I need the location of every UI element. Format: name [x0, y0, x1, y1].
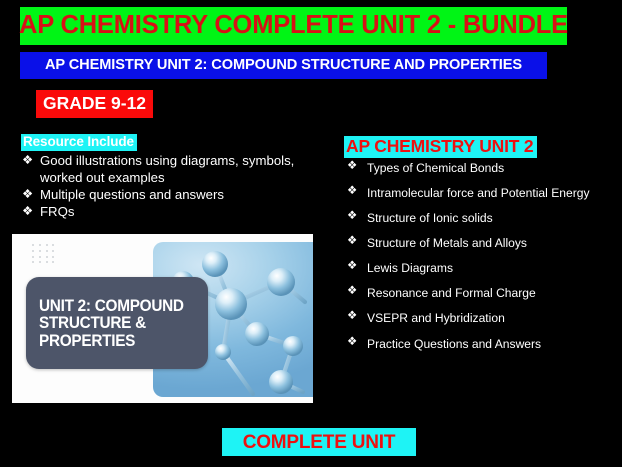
list-item-label: Structure of Metals and Alloys	[367, 236, 527, 250]
list-item-label: Lewis Diagrams	[367, 261, 453, 275]
complete-unit-text: COMPLETE UNIT	[243, 433, 396, 452]
resource-include-section: Resource Include ❖ Good illustrations us…	[21, 133, 321, 221]
cover-title-line-1: UNIT 2: COMPOUND	[39, 298, 184, 315]
diamond-bullet-icon: ❖	[347, 161, 357, 173]
list-item-label: VSEPR and Hybridization	[367, 311, 505, 325]
main-title-banner: AP CHEMISTRY COMPLETE UNIT 2 - BUNDLE	[20, 7, 567, 45]
list-item: ❖ Multiple questions and answers	[21, 187, 321, 204]
list-item: ❖ Resonance and Formal Charge	[344, 287, 616, 299]
cover-title-line-2: STRUCTURE &	[39, 315, 184, 332]
diamond-bullet-icon: ❖	[347, 286, 357, 298]
diamond-bullet-icon: ❖	[22, 152, 33, 168]
cover-title-line-3: PROPERTIES	[39, 333, 184, 350]
diamond-bullet-icon: ❖	[347, 211, 357, 223]
list-item: ❖ Structure of Metals and Alloys	[344, 237, 616, 249]
list-item-label: Structure of Ionic solids	[367, 211, 493, 225]
list-item-label: FRQs	[40, 204, 74, 219]
slide-canvas: AP CHEMISTRY COMPLETE UNIT 2 - BUNDLE AP…	[0, 0, 622, 467]
subtitle-text: AP CHEMISTRY UNIT 2: COMPOUND STRUCTURE …	[45, 58, 522, 73]
diamond-bullet-icon: ❖	[347, 311, 357, 323]
cover-title-box: UNIT 2: COMPOUND STRUCTURE & PROPERTIES	[26, 277, 208, 369]
list-item: ❖ Good illustrations using diagrams, sym…	[21, 153, 321, 187]
list-item-label: Types of Chemical Bonds	[367, 161, 504, 175]
grade-badge-text: GRADE 9-12	[43, 95, 146, 113]
cover-title-lines: UNIT 2: COMPOUND STRUCTURE & PROPERTIES	[39, 298, 184, 350]
list-item-label: Good illustrations using diagrams, symbo…	[40, 153, 294, 185]
unit-cover-thumbnail: UNIT 2: COMPOUND STRUCTURE & PROPERTIES	[12, 234, 313, 403]
list-item-label: Practice Questions and Answers	[367, 337, 541, 351]
diamond-bullet-icon: ❖	[347, 261, 357, 273]
list-item: ❖ Lewis Diagrams	[344, 262, 616, 274]
diamond-bullet-icon: ❖	[347, 236, 357, 248]
unit-topics-list: ❖ Types of Chemical Bonds ❖ Intramolecul…	[344, 162, 616, 350]
subtitle-banner: AP CHEMISTRY UNIT 2: COMPOUND STRUCTURE …	[20, 52, 547, 79]
unit-topics-heading: AP CHEMISTRY UNIT 2	[344, 136, 537, 158]
list-item: ❖ Intramolecular force and Potential Ene…	[344, 187, 616, 199]
dot-grid-decoration-icon	[32, 244, 59, 267]
main-title-text: AP CHEMISTRY COMPLETE UNIT 2 - BUNDLE	[19, 13, 568, 39]
list-item: ❖ Structure of Ionic solids	[344, 212, 616, 224]
complete-unit-banner: COMPLETE UNIT	[222, 428, 416, 456]
unit-topics-section: AP CHEMISTRY UNIT 2 ❖ Types of Chemical …	[344, 136, 616, 363]
diamond-bullet-icon: ❖	[347, 337, 357, 349]
list-item-label: Resonance and Formal Charge	[367, 286, 536, 300]
list-item: ❖ Types of Chemical Bonds	[344, 162, 616, 174]
diamond-bullet-icon: ❖	[22, 186, 33, 202]
list-item: ❖ Practice Questions and Answers	[344, 338, 616, 350]
list-item: ❖ VSEPR and Hybridization	[344, 312, 616, 324]
resource-include-heading: Resource Include	[21, 134, 137, 151]
list-item: ❖ FRQs	[21, 204, 321, 221]
resource-include-list: ❖ Good illustrations using diagrams, sym…	[21, 153, 321, 221]
list-item-label: Intramolecular force and Potential Energ…	[367, 186, 590, 200]
list-item-label: Multiple questions and answers	[40, 187, 224, 202]
grade-badge: GRADE 9-12	[36, 90, 153, 118]
diamond-bullet-icon: ❖	[347, 186, 357, 198]
diamond-bullet-icon: ❖	[22, 203, 33, 219]
